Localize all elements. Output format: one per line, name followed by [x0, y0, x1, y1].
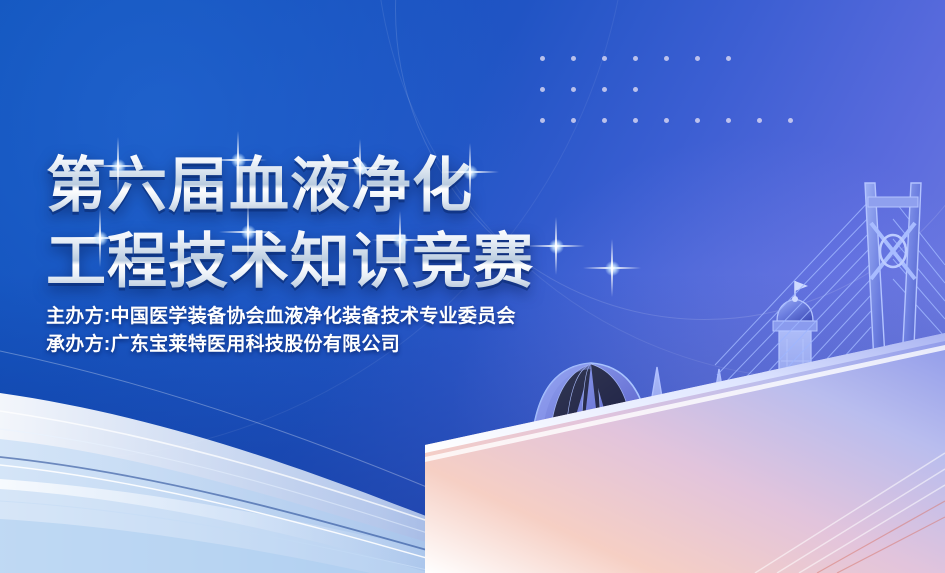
title-line-1: 第六届血液净化 — [46, 150, 534, 222]
grid-dot — [788, 118, 793, 123]
dot-grid-decoration — [540, 56, 819, 149]
grid-dot — [540, 56, 545, 61]
grid-dot — [633, 56, 638, 61]
twin-towers-shape — [635, 367, 735, 553]
event-banner: 第六届血液净化 工程技术知识竞赛 主办方:中国医学装备协会血液净化装备技术专业委… — [0, 0, 945, 573]
city-skyline-illustration — [525, 153, 945, 573]
grid-dot — [664, 56, 669, 61]
grid-dot — [571, 118, 576, 123]
grid-dot — [633, 118, 638, 123]
grid-dot — [633, 87, 638, 92]
cable-stayed-bridge-shape — [715, 183, 945, 553]
grid-dot — [571, 87, 576, 92]
opera-house-dome-shape — [531, 363, 651, 453]
dot-grid-row — [540, 87, 819, 118]
grid-dot — [695, 56, 700, 61]
grid-dot — [757, 118, 762, 123]
banner-title: 第六届血液净化 工程技术知识竞赛 — [46, 150, 534, 298]
grid-dot — [602, 56, 607, 61]
fisher-girl-statue-shape — [578, 477, 642, 573]
grid-dot — [726, 56, 731, 61]
grid-dot — [571, 56, 576, 61]
dot-grid-row — [540, 118, 819, 149]
grid-dot — [602, 87, 607, 92]
dot-grid-row — [540, 56, 819, 87]
banner-subtitle: 主办方:中国医学装备协会血液净化装备技术专业委员会 承办方:广东宝莱特医用科技股… — [46, 303, 516, 359]
co-organizer-line: 承办方:广东宝莱特医用科技股份有限公司 — [46, 331, 516, 359]
title-line-2: 工程技术知识竞赛 — [46, 226, 534, 298]
domed-tower-shape — [769, 281, 821, 555]
grid-dot — [540, 87, 545, 92]
grid-dot — [664, 118, 669, 123]
grid-dot — [602, 118, 607, 123]
organizer-line: 主办方:中国医学装备协会血液净化装备技术专业委员会 — [46, 303, 516, 331]
grid-dot — [726, 118, 731, 123]
grid-dot — [540, 118, 545, 123]
grid-dot — [695, 118, 700, 123]
